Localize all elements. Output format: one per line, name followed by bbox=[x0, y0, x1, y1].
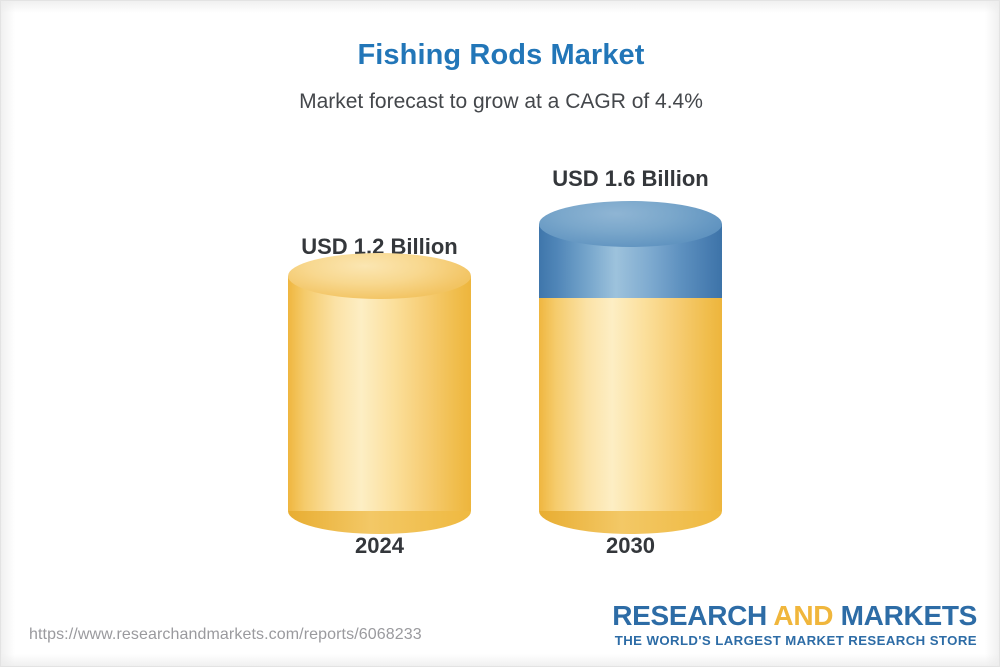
logo-word-research: RESEARCH bbox=[612, 600, 773, 631]
page-subtitle: Market forecast to grow at a CAGR of 4.4… bbox=[1, 90, 1000, 114]
research-and-markets-logo[interactable]: RESEARCH AND MARKETS THE WORLD'S LARGEST… bbox=[612, 601, 977, 648]
logo-wordmark: RESEARCH AND MARKETS bbox=[612, 601, 977, 630]
bar-year-label-2030: 2030 bbox=[539, 533, 722, 559]
bar-segment-growth-2030 bbox=[539, 224, 722, 298]
bar-body-base-2030 bbox=[539, 298, 722, 511]
source-url[interactable]: https://www.researchandmarkets.com/repor… bbox=[29, 626, 422, 644]
bar-top-ellipse-2030 bbox=[539, 201, 722, 247]
logo-tagline: THE WORLD'S LARGEST MARKET RESEARCH STOR… bbox=[612, 633, 977, 648]
bar-cylinder-2030 bbox=[539, 224, 722, 511]
page-title: Fishing Rods Market bbox=[1, 39, 1000, 72]
bar-top-ellipse-2024 bbox=[288, 253, 471, 299]
bar-segment-base-2030 bbox=[539, 298, 722, 511]
bar-segment-base-2024 bbox=[288, 276, 471, 511]
bar-value-label-2030: USD 1.6 Billion bbox=[539, 166, 722, 192]
chart-canvas: Fishing Rods Market Market forecast to g… bbox=[0, 0, 1000, 667]
logo-word-markets: MARKETS bbox=[833, 600, 977, 631]
bar-body-2024 bbox=[288, 276, 471, 511]
logo-word-and: AND bbox=[773, 600, 833, 631]
bar-cylinder-2024 bbox=[288, 276, 471, 511]
bar-year-label-2024: 2024 bbox=[288, 533, 471, 559]
